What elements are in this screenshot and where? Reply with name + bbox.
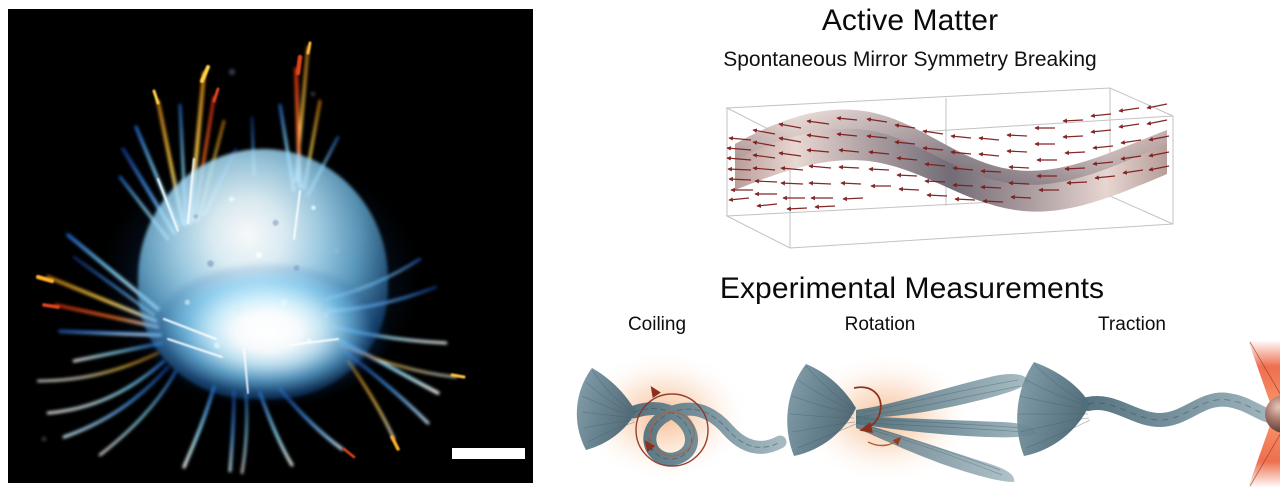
right-column: Active Matter Spontaneous Mirror Symmetr… [540,0,1280,498]
section-title-experimental-measurements: Experimental Measurements [542,272,1280,306]
subtitle-mirror-symmetry: Spontaneous Mirror Symmetry Breaking [540,48,1280,72]
twisted-active-surface-simulation [715,78,1185,238]
rotation-diagram [787,352,1036,484]
label-rotation: Rotation [845,314,916,336]
simulation-figure [715,78,1185,238]
page-title-active-matter: Active Matter [540,4,1280,38]
scale-bar [452,448,525,459]
trapped-bead [1265,395,1280,433]
label-traction: Traction [1098,314,1166,336]
coiling-diagram [576,350,780,482]
fluorescence-micrograph-panel [8,9,533,483]
active-surface [735,110,1167,212]
cell-image [8,9,533,483]
figure-root: Active Matter Spontaneous Mirror Symmetr… [0,0,1280,498]
filopodia-foreground-layer [8,9,533,483]
label-coiling: Coiling [628,314,686,336]
measurement-figures [540,338,1280,493]
traction-diagram [1017,340,1280,488]
measurement-diagrams [540,338,1280,493]
